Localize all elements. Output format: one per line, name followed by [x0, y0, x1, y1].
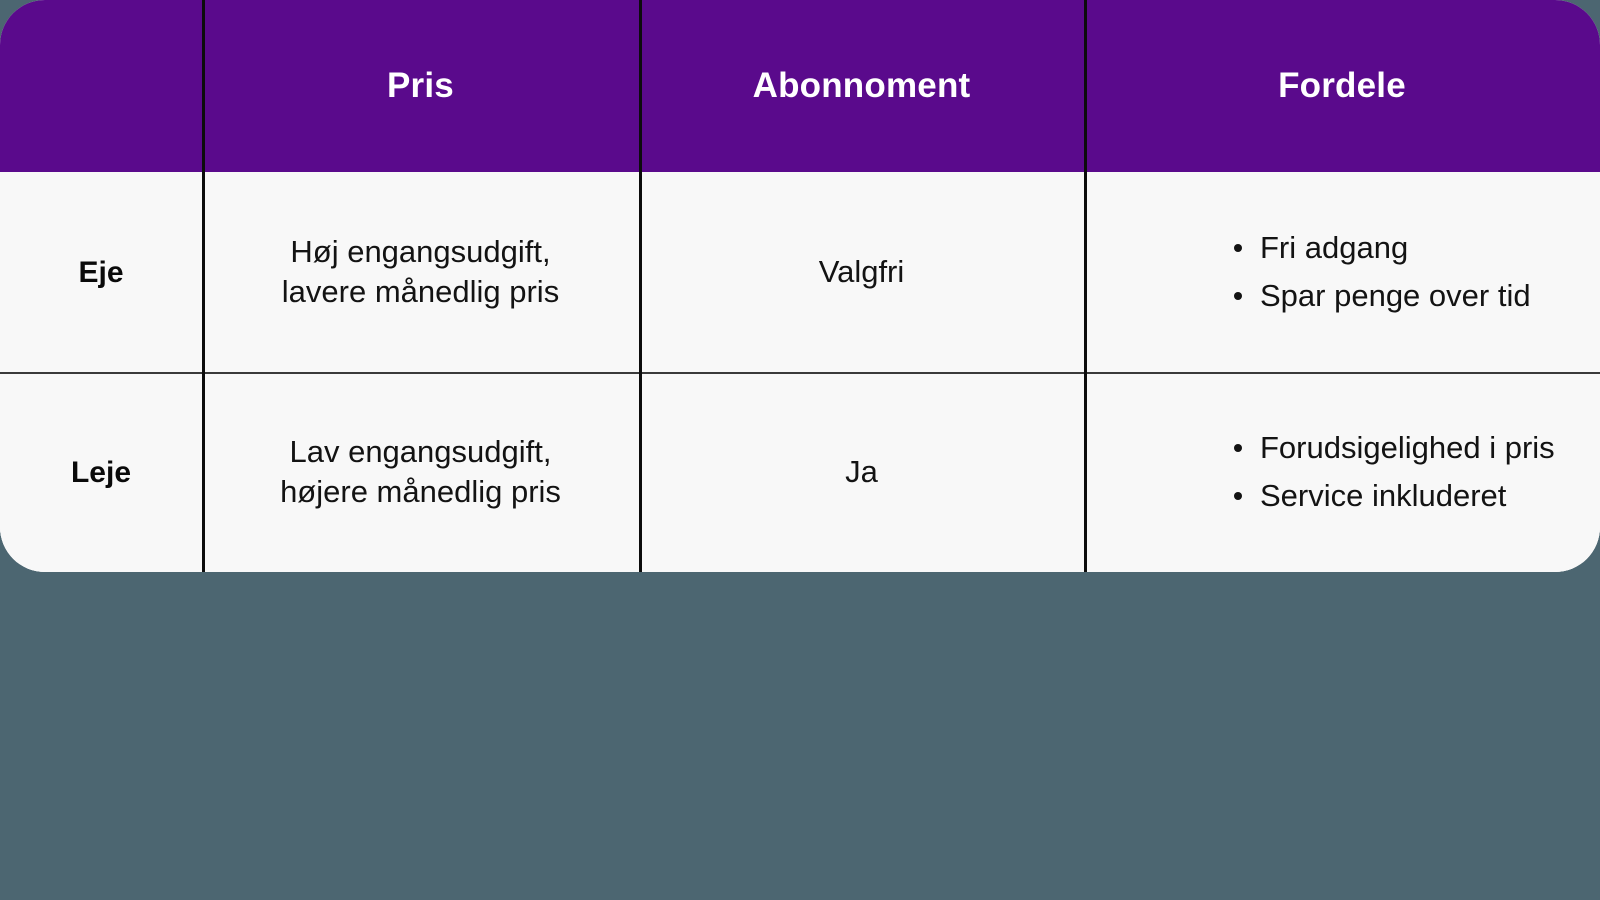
table-header-cell-price: Pris	[202, 0, 639, 172]
benefit-text: Service inkluderet	[1260, 478, 1506, 513]
benefit-list-rent: Forudsigelighed i pris Service inkludere…	[1102, 428, 1555, 517]
row-label-rent: Leje	[71, 453, 131, 492]
list-item: Fri adgang	[1234, 228, 1531, 268]
subscription-text-own: Valgfri	[819, 252, 905, 292]
table-cell-subscription: Valgfri	[639, 172, 1084, 372]
bullet-icon	[1234, 492, 1242, 500]
table-header-label-benefits: Fordele	[1278, 65, 1406, 107]
table-header-row: Pris Abonnoment Fordele	[0, 0, 1600, 172]
table-cell-price: Lav engangsudgift, højere månedlig pris	[202, 372, 639, 572]
benefit-text: Spar penge over tid	[1260, 278, 1531, 313]
bullet-icon	[1234, 444, 1242, 452]
table-row: Leje Lav engangsudgift, højere månedlig …	[0, 372, 1600, 572]
table-cell-benefits: Fri adgang Spar penge over tid	[1084, 172, 1600, 372]
benefit-list-own: Fri adgang Spar penge over tid	[1102, 228, 1531, 317]
price-text-rent: Lav engangsudgift, højere månedlig pris	[280, 432, 561, 513]
benefit-text: Fri adgang	[1260, 230, 1408, 265]
table-cell-subscription: Ja	[639, 372, 1084, 572]
table-cell-benefits: Forudsigelighed i pris Service inkludere…	[1084, 372, 1600, 572]
table-body: Eje Høj engangsudgift, lavere månedlig p…	[0, 172, 1600, 572]
table-cell-price: Høj engangsudgift, lavere månedlig pris	[202, 172, 639, 372]
row-label-own: Eje	[78, 253, 123, 292]
table-header-cell-empty	[0, 0, 202, 172]
table-cell-row-label: Eje	[0, 172, 202, 372]
table-cell-row-label: Leje	[0, 372, 202, 572]
bullet-icon	[1234, 244, 1242, 252]
comparison-table: Pris Abonnoment Fordele Eje Høj engangsu…	[0, 0, 1600, 572]
bullet-icon	[1234, 292, 1242, 300]
table-header-cell-benefits: Fordele	[1084, 0, 1600, 172]
table-header-cell-subscription: Abonnoment	[639, 0, 1084, 172]
price-text-own: Høj engangsudgift, lavere månedlig pris	[282, 232, 559, 313]
table-row: Eje Høj engangsudgift, lavere månedlig p…	[0, 172, 1600, 372]
list-item: Spar penge over tid	[1234, 276, 1531, 316]
subscription-text-rent: Ja	[845, 452, 878, 492]
list-item: Service inkluderet	[1234, 476, 1555, 516]
benefit-text: Forudsigelighed i pris	[1260, 430, 1555, 465]
table-header-label-subscription: Abonnoment	[753, 65, 971, 107]
list-item: Forudsigelighed i pris	[1234, 428, 1555, 468]
table-header-label-price: Pris	[387, 65, 454, 107]
